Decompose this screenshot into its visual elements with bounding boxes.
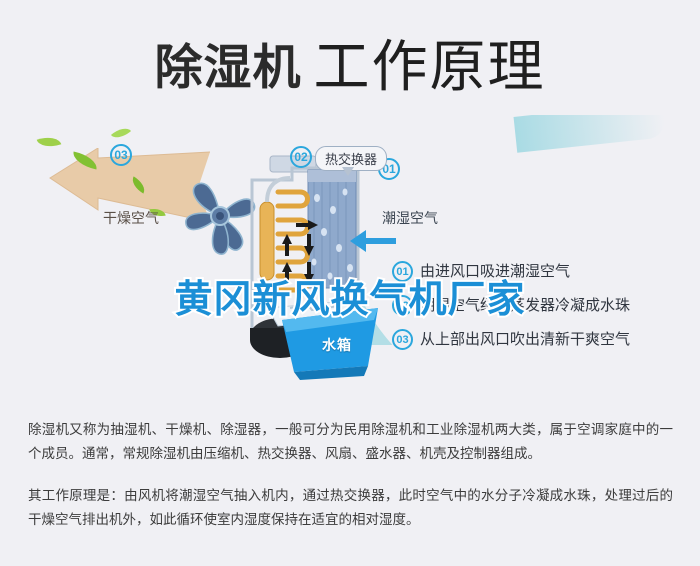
dehumidifier-unit-illustration [238, 140, 398, 390]
callout-stem-icon [342, 167, 354, 176]
page-title-primary: 除湿机 [154, 42, 301, 95]
step-number: 03 [392, 329, 413, 350]
page-title-secondary: 工作原理 [314, 35, 546, 98]
leaf-icon [111, 123, 131, 142]
infographic-page: 除湿机工作原理 [0, 0, 700, 566]
paragraph-principle: 其工作原理是：由风机将潮湿空气抽入机内，通过热交换器，此时空气中的水分子冷凝成水… [28, 484, 673, 532]
label-water-tank: 水箱 [322, 335, 352, 355]
label-dry-air: 干燥空气 [103, 208, 159, 228]
page-title: 除湿机工作原理 [0, 22, 700, 103]
badge-02-heat-exchanger: 02 [290, 146, 312, 168]
paragraph-definition: 除湿机又称为抽湿机、干燥机、除湿器，一般可分为民用除湿机和工业除湿机两大类，属于… [28, 418, 673, 466]
article-body: 除湿机又称为抽湿机、干燥机、除湿器，一般可分为民用除湿机和工业除湿机两大类，属于… [28, 418, 673, 550]
step-text: 从上部出风口吹出清新干爽空气 [420, 328, 630, 349]
watermark-text: 黄冈新风换气机厂家 [0, 268, 700, 323]
label-humid-air: 潮湿空气 [382, 208, 438, 228]
list-item: 03 从上部出风口吹出清新干爽空气 [392, 326, 692, 360]
badge-03-dry-air: 03 [110, 144, 132, 166]
